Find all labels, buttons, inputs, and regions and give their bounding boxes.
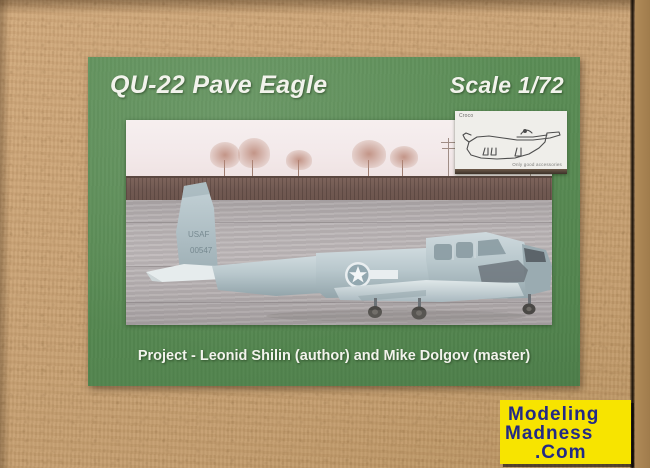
logo-caption-bottom: Only good accessories (512, 162, 562, 167)
cardboard-seam-line (630, 0, 635, 468)
svg-text:00547: 00547 (190, 246, 213, 255)
watermark-line-3: .Com (535, 443, 587, 462)
cardboard-left-shadow (0, 0, 10, 468)
logo-box-base (455, 169, 567, 174)
svg-text:USAF: USAF (188, 230, 209, 239)
watermark-line-2: Madness (505, 424, 593, 443)
cardboard-top-shadow (0, 0, 650, 14)
scale-label: Scale 1/72 (450, 72, 564, 99)
watermark-logo: Modeling Madness .Com (500, 400, 631, 464)
cardboard-right-panel (635, 0, 650, 468)
crocodile-icon (455, 111, 567, 169)
screenshot-root: QU-22 Pave Eagle Scale 1/72 (0, 0, 650, 468)
card-header: QU-22 Pave Eagle Scale 1/72 (88, 71, 580, 113)
credits-line: Project - Leonid Shilin (author) and Mik… (88, 348, 580, 364)
watermark-line-1: Modeling (508, 405, 599, 424)
manufacturer-logo-box: Croco Only good acc (455, 111, 567, 174)
page-title: QU-22 Pave Eagle (110, 71, 327, 100)
instruction-card: QU-22 Pave Eagle Scale 1/72 (88, 57, 580, 386)
